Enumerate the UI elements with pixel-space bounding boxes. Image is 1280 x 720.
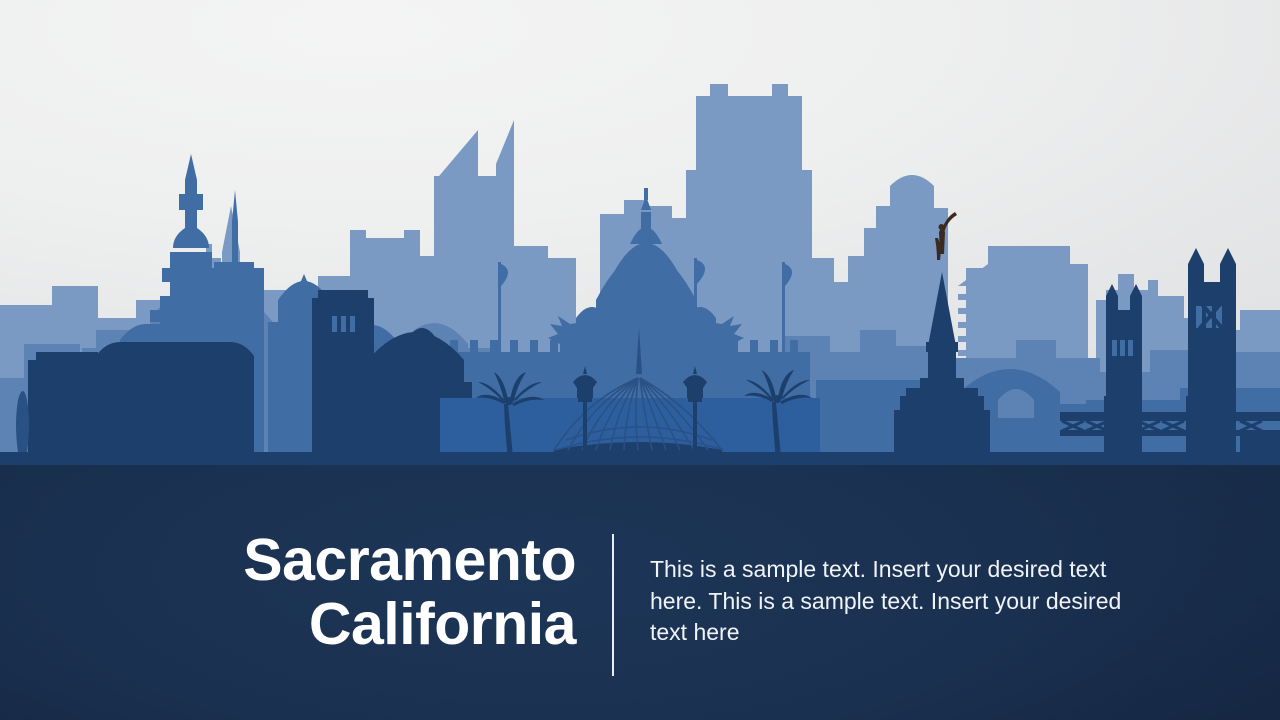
caption-area: Sacramento California This is a sample t… xyxy=(0,465,1280,720)
body-paragraph: This is a sample text. Insert your desir… xyxy=(650,554,1160,649)
page-title: Sacramento California xyxy=(0,529,582,656)
slide-canvas: Sacramento California This is a sample t… xyxy=(0,0,1280,720)
vertical-divider xyxy=(612,534,614,676)
body-column: This is a sample text. Insert your desir… xyxy=(650,554,1160,649)
sacramento-skyline-illustration xyxy=(0,0,1280,500)
title-column: Sacramento California xyxy=(0,529,582,656)
